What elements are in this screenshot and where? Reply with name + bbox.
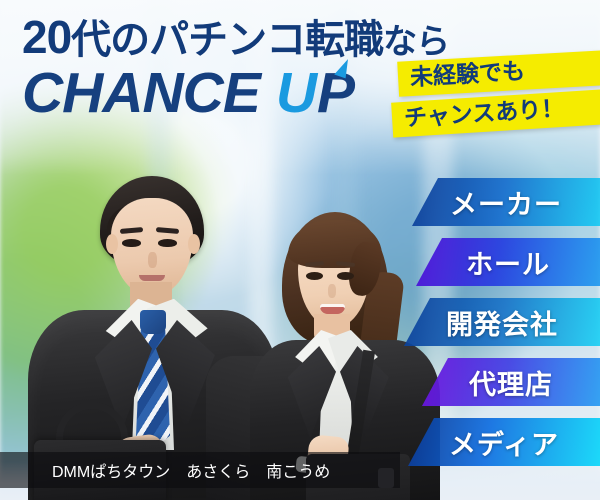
- male-model: [28, 170, 278, 500]
- tag-maker[interactable]: メーカー: [412, 178, 600, 226]
- tag-agency[interactable]: 代理店: [422, 358, 600, 406]
- category-tag-list: メーカー ホール 開発会社 代理店 メディア: [400, 178, 600, 466]
- logo-letter-u: U: [276, 66, 316, 120]
- recruitment-banner: 20代のパチンコ転職なら CHANCE U P 未経験でも チャンスあり！ メー…: [0, 0, 600, 500]
- caption-text: DMMぱちタウン あさくら 南こうめ: [0, 458, 330, 482]
- logo-word-up: U P: [276, 66, 354, 120]
- male-mouth: [139, 275, 165, 281]
- headline-tagline: 20代のパチンコ転職なら: [22, 14, 449, 60]
- male-ear-left: [106, 234, 118, 254]
- female-nose: [328, 284, 336, 298]
- badge-no-experience: 未経験でも: [397, 50, 600, 96]
- caption-band: DMMぱちタウン あさくら 南こうめ: [0, 452, 400, 488]
- people-photo: [0, 140, 420, 500]
- female-mouth: [320, 304, 345, 314]
- female-eye-left: [306, 272, 323, 280]
- badge-chance-available: チャンスあり！: [391, 89, 600, 137]
- male-eye-left: [122, 239, 141, 247]
- headline-age-number: 20: [22, 11, 71, 63]
- male-ear-right: [188, 234, 200, 254]
- tag-media[interactable]: メディア: [408, 418, 600, 466]
- tag-hall[interactable]: ホール: [416, 238, 600, 286]
- headline-block: 20代のパチンコ転職なら CHANCE U P: [22, 14, 449, 120]
- male-necktie-knot: [140, 310, 166, 334]
- male-nose: [148, 252, 157, 268]
- tag-development-company[interactable]: 開発会社: [404, 298, 600, 346]
- highlight-badges: 未経験でも チャンスあり！: [392, 56, 600, 131]
- female-eye-right: [337, 272, 354, 280]
- male-eye-right: [158, 239, 177, 247]
- logo-word-chance: CHANCE: [22, 66, 260, 120]
- chance-up-logo: CHANCE U P: [22, 66, 449, 120]
- headline-tagline-main: 代のパチンコ転職: [71, 18, 383, 62]
